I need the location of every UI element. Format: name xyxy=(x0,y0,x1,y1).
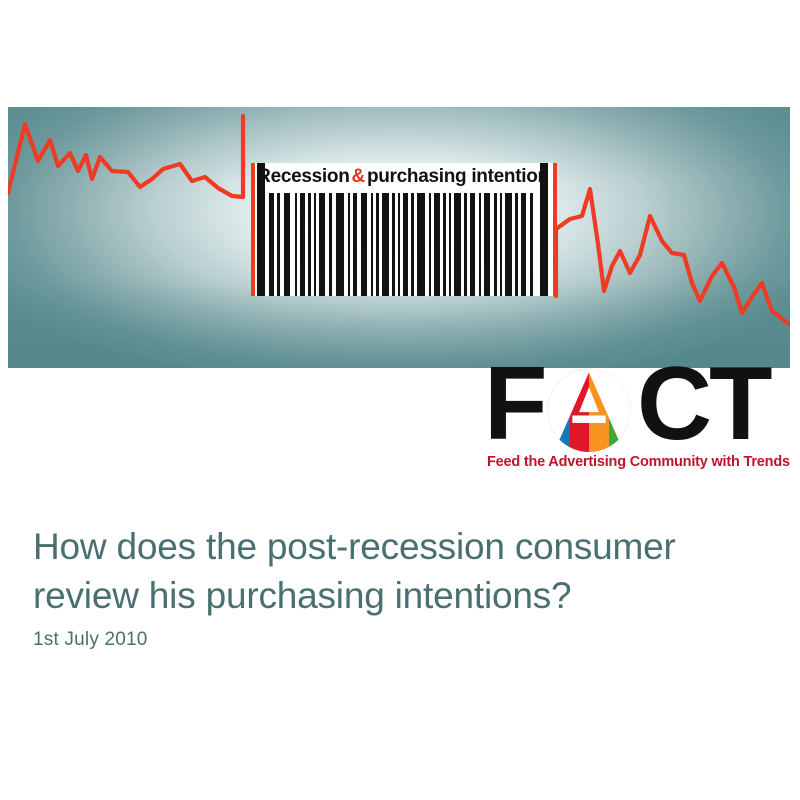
barcode-label-ampersand: & xyxy=(350,166,367,188)
fact-letter-f: F xyxy=(484,352,546,456)
fact-wordmark: F C T xyxy=(487,366,790,456)
fact-tagline: Feed the Advertising Community with Tren… xyxy=(487,454,790,470)
fact-logo: F C T Feed the Advertising Community w xyxy=(487,366,790,484)
fact-letter-c: C xyxy=(637,352,710,456)
barcode-label: Recession & purchasing intention xyxy=(257,163,549,191)
barcode-graphic: Recession & purchasing intention xyxy=(243,163,565,296)
fact-letter-t: T xyxy=(709,352,771,456)
chart-line-left xyxy=(8,116,243,197)
presentation-date: 1st July 2010 xyxy=(33,629,148,651)
barcode-label-part1: Recession xyxy=(257,166,349,188)
page-title-line-2: review his purchasing intentions? xyxy=(33,572,753,621)
fact-letter-a-colorwheel-icon xyxy=(545,369,633,452)
page-title: How does the post-recession consumer rev… xyxy=(33,523,753,621)
barcode-label-part2: purchasing intention xyxy=(367,166,549,188)
chart-line-right xyxy=(556,189,790,325)
page-title-line-1: How does the post-recession consumer xyxy=(33,523,753,572)
recession-banner: Recession & purchasing intention xyxy=(8,107,790,368)
